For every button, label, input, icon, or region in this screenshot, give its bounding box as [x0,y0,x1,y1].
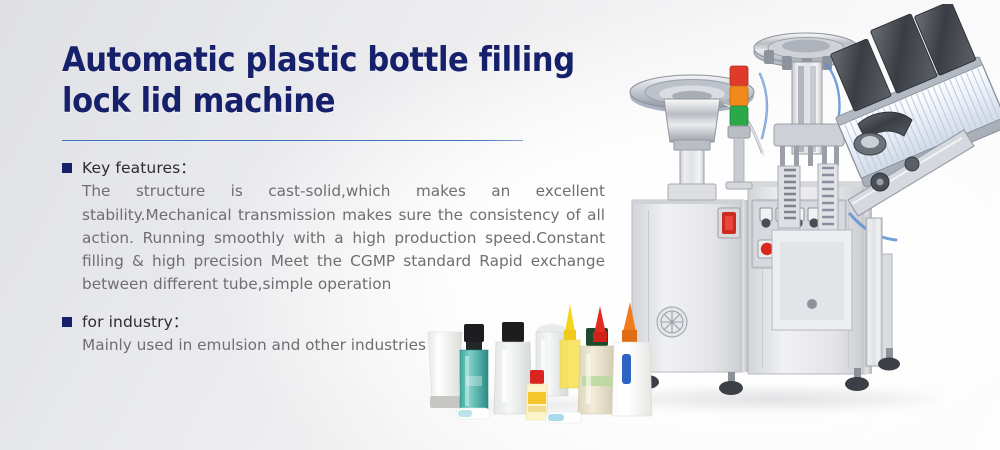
title-line-1: Automatic plastic bottle filling [62,40,575,80]
section-body: The structure is cast-solid,which makes … [82,180,605,296]
signal-tower-light [726,66,752,189]
right-support-leg [866,218,892,366]
small-tube-front-left [456,408,490,419]
section-label: Key features： [82,157,196,179]
page-title: Automatic plastic bottle filling lock li… [62,40,622,123]
orange-nozzle-bottle [612,302,652,416]
red-nozzle-bottle [593,306,607,342]
section-label: for industry： [82,311,189,333]
bottles-photo [418,292,668,432]
teal-glass-bottle [460,324,488,414]
square-bullet-icon [62,317,72,327]
cosmetic-tube [428,332,462,408]
title-line-2: lock lid machine [62,81,622,122]
feature-section-key-features: Key features： The structure is cast-soli… [62,157,622,297]
product-banner: Automatic plastic bottle filling lock li… [0,0,1000,450]
square-bullet-icon [62,163,72,173]
section-heading: Key features： [62,157,622,179]
machine-photo [612,4,1000,424]
yellow-nozzle-bottle [560,304,580,388]
small-tube-front-right [546,412,582,423]
emergency-stop-switch[interactable] [718,208,740,238]
title-divider [62,140,523,141]
